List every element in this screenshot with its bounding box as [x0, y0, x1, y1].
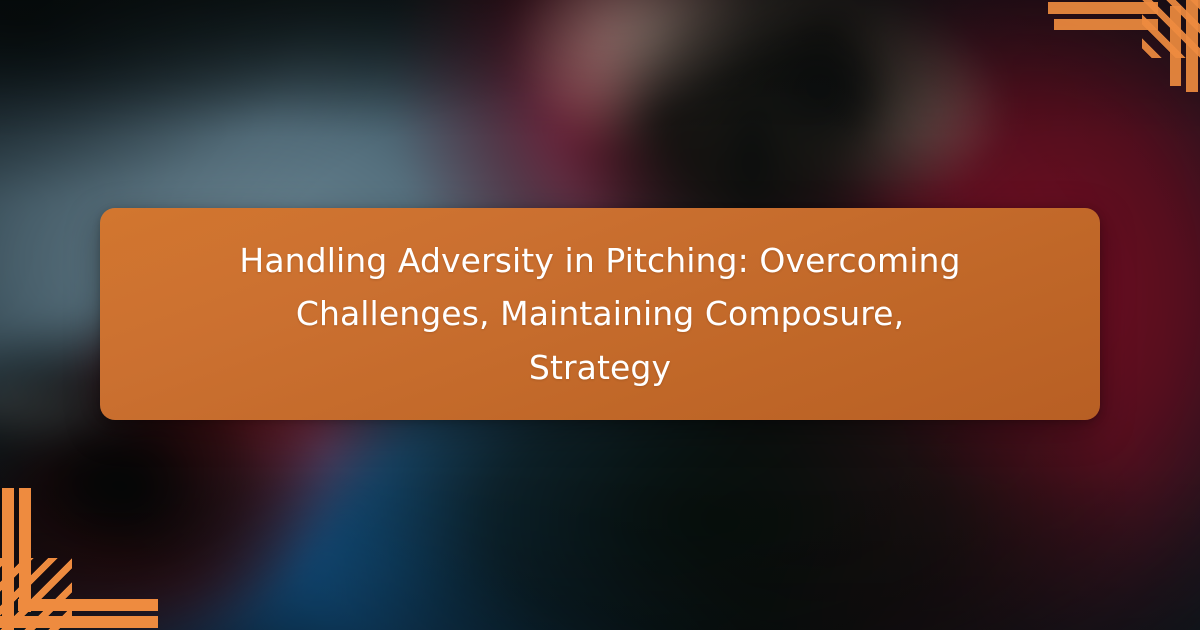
social-card-canvas: Handling Adversity in Pitching: Overcomi…: [0, 0, 1200, 630]
title-card: Handling Adversity in Pitching: Overcomi…: [100, 208, 1100, 420]
page-title: Handling Adversity in Pitching: Overcomi…: [220, 234, 980, 394]
